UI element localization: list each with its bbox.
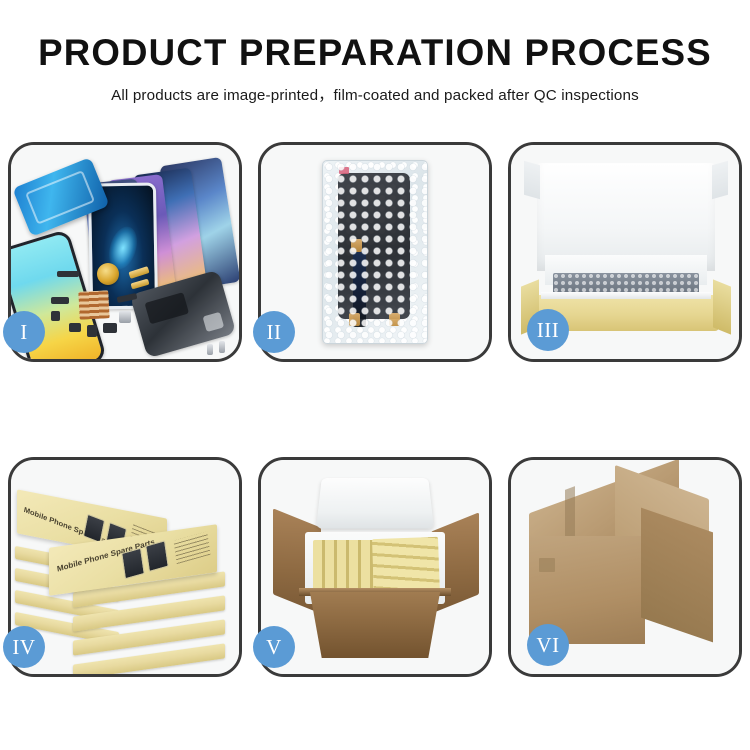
step-panel-6: VI [508,457,742,677]
part-camera-icon [69,323,81,332]
step-panel-2: II [258,142,492,362]
speaker-coil-icon [97,263,119,285]
red-tab-icon [339,167,349,174]
contact-pad-grid-icon [78,290,109,320]
page-subtitle: All products are image-printed，film-coat… [0,83,750,105]
step-panel-4: Mobile Phone Spare Parts Mobile Phone Sp… [8,457,242,677]
part-connector-icon [51,297,69,304]
carton-tape-top-icon [539,558,555,572]
foam-lid-icon [316,478,434,528]
step-panel-1: I [8,142,242,362]
sealed-carton-side-icon [641,508,713,643]
step-panel-3: III [508,142,742,362]
step-image-1 [11,145,239,359]
part-screw-icon [219,341,225,353]
carton-body-icon [301,592,449,658]
process-steps-grid: I II III [8,142,742,677]
part-screw-2-icon [207,344,213,355]
part-button-icon [51,311,60,321]
box-stack: Mobile Phone Spare Parts Mobile Phone Sp… [15,478,239,668]
step-badge-3: III [527,309,569,351]
part-chip-icon [57,271,79,277]
step-image-5 [261,460,489,674]
step-badge-5: V [253,626,295,668]
box-rim-icon [541,292,711,299]
part-speaker-icon [87,325,97,337]
step-badge-6: VI [527,624,569,666]
tape-piece-2-icon [349,313,360,326]
wrapped-lcd-icon [338,173,410,319]
step-panel-5: V [258,457,492,677]
tape-piece-3-icon [389,313,400,326]
step-image-4: Mobile Phone Spare Parts Mobile Phone Sp… [11,460,239,674]
page-title: PRODUCT PREPARATION PROCESS [4,34,747,71]
bubble-wrap-bag-icon [322,160,428,344]
step-badge-4: IV [3,626,45,668]
step-image-2 [261,145,489,359]
step-badge-1: I [3,311,45,353]
page-header: PRODUCT PREPARATION PROCESS All products… [0,0,750,105]
step-badge-2: II [253,311,295,353]
part-bracket-icon [119,311,131,323]
box-phone-image-4 [145,540,169,572]
part-vibrator-icon [103,323,117,333]
tape-piece-1-icon [351,239,362,252]
screens-and-parts-scene [11,145,239,359]
box-spec-lines-front [173,531,210,564]
box-phone-image-3 [121,548,145,580]
